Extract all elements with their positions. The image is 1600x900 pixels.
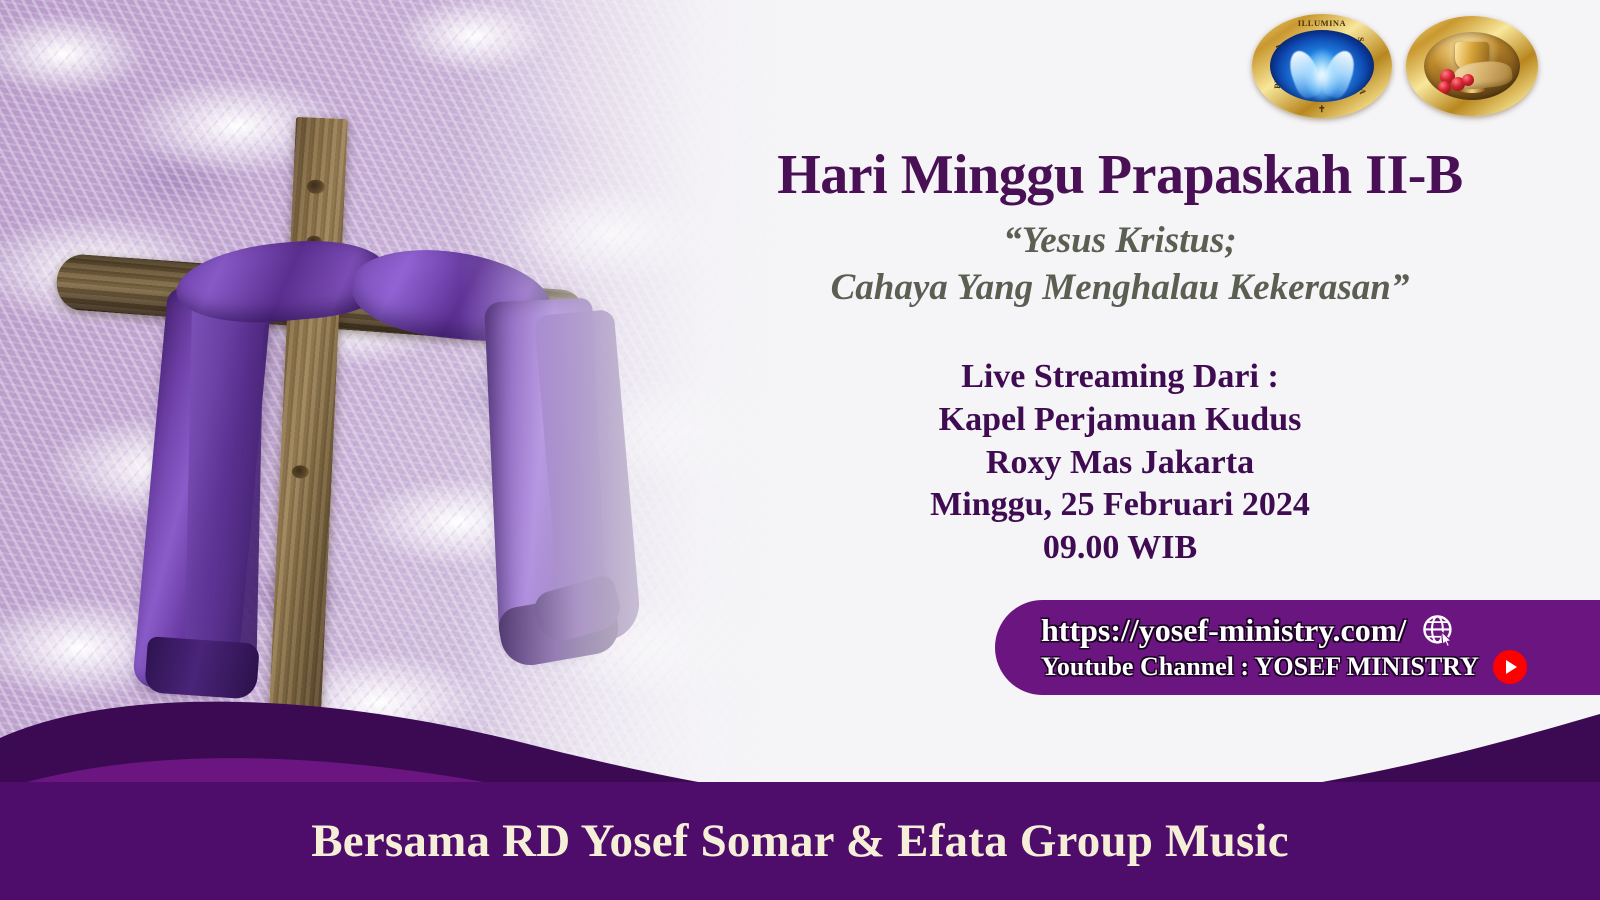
presenter-text: Bersama RD Yosef Somar & Efata Group Mus… [311, 814, 1289, 868]
illumina-purifica-sanctifica-emblem: ILLUMINA PURIFICA SANCTIFICA ✝ [1252, 14, 1392, 118]
bottom-wave-decoration: Bersama RD Yosef Somar & Efata Group Mus… [0, 650, 1600, 900]
detail-line-venue: Kapel Perjamuan Kudus [700, 399, 1540, 442]
subtitle-line-2: Cahaya Yang Menghalau Kekerasan” [700, 265, 1540, 312]
grape-icon [1462, 74, 1474, 86]
detail-line-date: Minggu, 25 Februari 2024 [700, 484, 1540, 527]
website-row[interactable]: https://yosef-ministry.com/ [1041, 612, 1584, 650]
grape-icon [1438, 81, 1451, 94]
presenter-banner: Bersama RD Yosef Somar & Efata Group Mus… [0, 782, 1600, 900]
poster-subtitle: “Yesus Kristus; Cahaya Yang Menghalau Ke… [700, 218, 1540, 311]
emblem-cross-glyph: ✝ [1318, 104, 1326, 115]
wood-knot-icon [307, 179, 326, 194]
praying-hands-icon [1270, 30, 1374, 102]
globe-icon[interactable] [1420, 612, 1458, 650]
service-details: Live Streaming Dari : Kapel Perjamuan Ku… [700, 356, 1540, 570]
eucharist-inner-scene [1424, 32, 1520, 100]
lent-service-poster: ILLUMINA PURIFICA SANCTIFICA ✝ [0, 0, 1600, 900]
eucharist-chalice-bread-emblem [1406, 16, 1538, 116]
detail-line-time: 09.00 WIB [700, 527, 1540, 570]
light-glow [1305, 49, 1339, 101]
detail-line-streaming: Live Streaming Dari : [700, 356, 1540, 399]
website-url[interactable]: https://yosef-ministry.com/ [1041, 612, 1406, 649]
purple-drape-left-fold [184, 299, 264, 692]
emblem-inner-scene [1270, 30, 1374, 102]
emblem-ring-top: ILLUMINA [1298, 18, 1346, 28]
subtitle-line-1: “Yesus Kristus; [700, 218, 1540, 265]
wood-knot-icon [292, 465, 310, 479]
detail-line-location: Roxy Mas Jakarta [700, 442, 1540, 485]
emblem-group: ILLUMINA PURIFICA SANCTIFICA ✝ [1252, 14, 1538, 118]
poster-title: Hari Minggu Prapaskah II-B [700, 146, 1540, 205]
